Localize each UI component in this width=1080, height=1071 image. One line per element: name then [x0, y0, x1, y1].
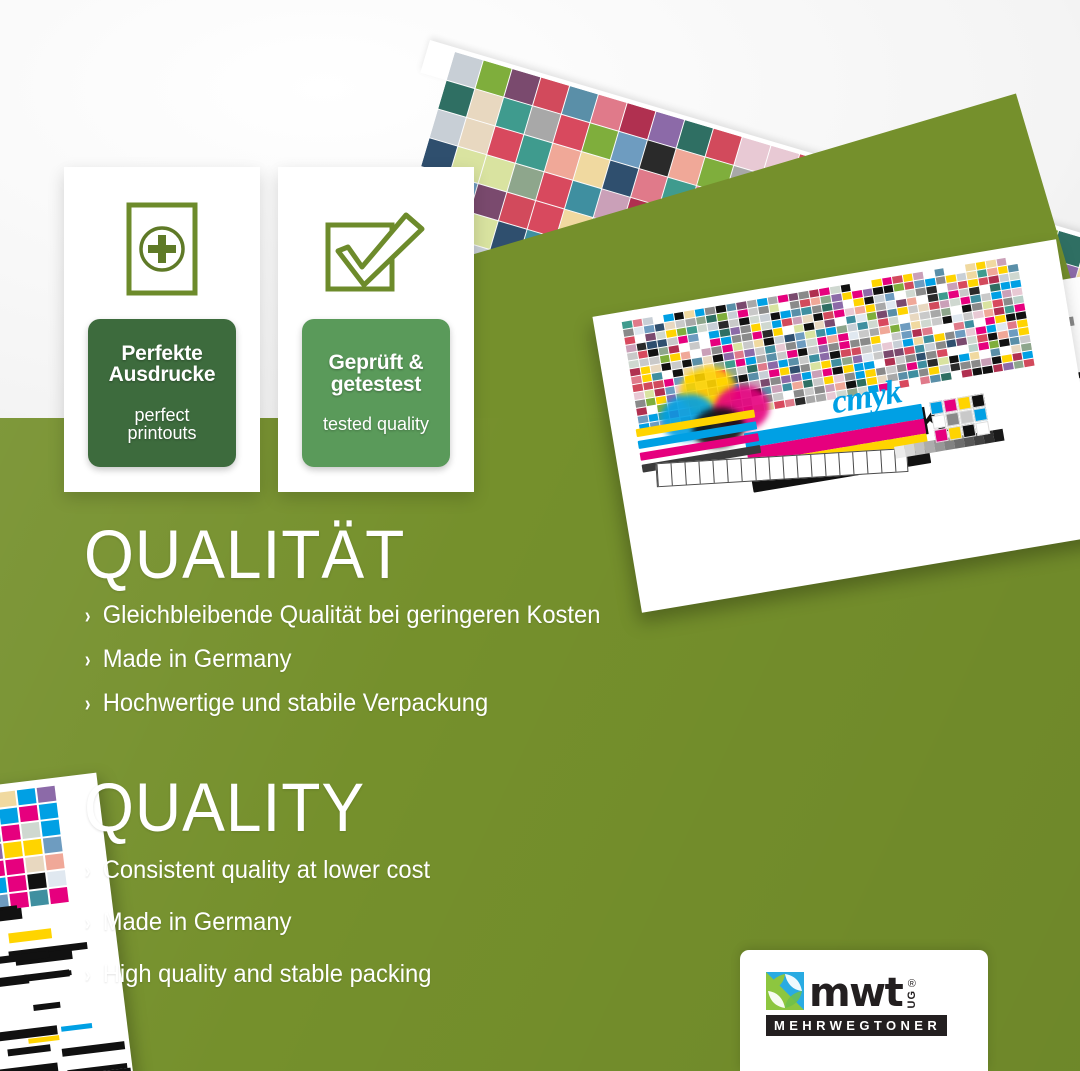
ruler-tick	[698, 462, 700, 484]
list-item-label: Made in Germany	[103, 910, 292, 935]
patch	[948, 426, 963, 441]
section-english: QUALITY › Consistent quality at lower co…	[84, 774, 450, 1014]
patch	[961, 423, 976, 438]
patch	[959, 409, 974, 424]
test-patch	[941, 373, 952, 381]
test-patch	[920, 376, 931, 384]
chevron-right-icon: ›	[85, 692, 91, 715]
test-patch	[47, 870, 67, 887]
test-patch	[785, 399, 796, 407]
test-mark	[7, 1044, 51, 1056]
test-patch	[982, 366, 993, 374]
test-patch	[27, 873, 47, 890]
gray-step	[993, 429, 1005, 442]
feature-title-en: tested quality	[323, 415, 429, 434]
list-item-label: High quality and stable packing	[103, 962, 432, 987]
test-patch	[993, 364, 1004, 372]
test-patch	[7, 875, 27, 892]
checkbox-pen-icon	[278, 193, 474, 305]
test-patch	[19, 805, 39, 822]
test-patch	[816, 393, 827, 401]
patch	[932, 414, 947, 429]
test-patch	[49, 887, 69, 904]
list-item: › High quality and stable packing	[84, 962, 431, 987]
list-item-label: Made in Germany	[103, 647, 292, 672]
feature-title-de: Geprüft &getestest	[328, 352, 423, 395]
test-patch	[43, 836, 63, 853]
chevron-right-icon: ›	[85, 604, 91, 627]
test-patch	[0, 807, 19, 824]
test-patch	[5, 858, 25, 875]
test-mark	[0, 908, 23, 926]
ruler-tick	[782, 457, 784, 479]
list-item: › Gleichbleibende Qualität bei geringere…	[84, 603, 600, 628]
test-patch	[23, 839, 43, 856]
ruler-tick	[824, 454, 826, 476]
test-patch	[21, 822, 41, 839]
patch	[971, 393, 986, 408]
test-patch	[774, 400, 785, 408]
patch	[934, 428, 949, 443]
ruler-tick	[657, 464, 659, 486]
list-item-label: Gleichbleibende Qualität bei geringeren …	[103, 603, 601, 628]
test-patch	[962, 369, 973, 377]
test-patch	[909, 378, 920, 386]
test-mark	[33, 1002, 60, 1011]
ruler-tick	[768, 457, 770, 479]
test-patch	[805, 395, 816, 403]
chevron-right-icon: ›	[85, 911, 91, 934]
test-patch	[0, 861, 5, 878]
list-item: › Made in Germany	[84, 910, 431, 935]
test-patch	[39, 803, 59, 820]
chevron-right-icon: ›	[85, 963, 91, 986]
bullet-list-de: › Gleichbleibende Qualität bei geringere…	[84, 603, 628, 716]
list-item: › Hochwertige und stabile Verpackung	[84, 691, 600, 716]
chevron-right-icon: ›	[85, 648, 91, 671]
page-title-de: QUALITÄT	[84, 521, 590, 589]
test-patch	[899, 380, 910, 388]
logo-tagline: MEHRWEGTONER	[766, 1015, 947, 1036]
test-patch	[951, 371, 962, 379]
test-patch	[972, 367, 983, 375]
brand-logo[interactable]: mwt ® UG MEHRWEGTONER	[740, 950, 988, 1071]
list-item: › Made in Germany	[84, 647, 600, 672]
product-banner: cmyk CMYK	[0, 0, 1080, 1071]
ruler-tick	[754, 458, 756, 480]
feature-tile: PerfekteAusdrucke perfectprintouts	[88, 319, 236, 467]
test-patch	[0, 791, 17, 808]
feature-title-de: PerfekteAusdrucke	[109, 343, 216, 386]
ruler-tick	[726, 460, 728, 482]
feature-tile: Geprüft &getestest tested quality	[302, 319, 450, 467]
ruler-tick	[880, 451, 882, 473]
mwt-leaf-mark-icon	[766, 972, 804, 1010]
test-patch	[45, 853, 65, 870]
chevron-right-icon: ›	[85, 859, 91, 882]
patch	[975, 421, 990, 436]
feature-title-en: perfectprintouts	[127, 406, 196, 443]
ruler-tick	[838, 453, 840, 475]
list-item: › Consistent quality at lower cost	[84, 858, 431, 883]
page-plus-icon	[64, 193, 260, 305]
test-patch	[3, 841, 23, 858]
patch	[943, 398, 958, 413]
feature-card-tested-quality[interactable]: Geprüft &getestest tested quality	[278, 167, 474, 492]
ruler-tick	[866, 451, 868, 473]
logo-legal-form: UG	[906, 990, 918, 1009]
patch	[929, 400, 944, 415]
ruler-tick	[796, 456, 798, 478]
test-mark	[62, 1041, 125, 1056]
test-patch	[1024, 359, 1035, 367]
patch	[957, 396, 972, 411]
registered-trademark-icon: ®	[908, 978, 916, 990]
ruler-tick	[810, 455, 812, 477]
test-patch	[17, 788, 37, 805]
ruler-tick	[684, 463, 686, 485]
test-mark	[0, 1062, 59, 1071]
test-patch	[930, 374, 941, 382]
test-patch	[41, 819, 61, 836]
page-title-en: QUALITY	[84, 774, 424, 842]
test-mark	[8, 928, 52, 943]
test-patch	[25, 856, 45, 873]
list-item-label: Hochwertige und stabile Verpackung	[103, 691, 489, 716]
test-patch	[37, 786, 57, 803]
test-mark	[0, 975, 29, 991]
ruler-tick	[670, 463, 672, 485]
ruler-tick	[712, 461, 714, 483]
patch	[973, 407, 988, 422]
feature-card-perfect-printouts[interactable]: PerfekteAusdrucke perfectprintouts	[64, 167, 260, 492]
test-mark	[61, 1023, 93, 1031]
section-german: QUALITÄT › Gleichbleibende Qualität bei …	[84, 521, 628, 735]
logo-wordmark: mwt	[809, 977, 902, 1010]
test-patch	[795, 397, 806, 405]
bullet-list-en: › Consistent quality at lower cost › Mad…	[84, 858, 450, 987]
test-patch	[1, 824, 21, 841]
test-patch	[0, 877, 7, 894]
ruler-tick	[740, 459, 742, 481]
ruler-tick	[852, 452, 854, 474]
test-patch	[1003, 362, 1014, 370]
test-patch	[29, 889, 49, 906]
patch	[945, 412, 960, 427]
test-patch	[1014, 360, 1025, 368]
list-item-label: Consistent quality at lower cost	[103, 858, 430, 883]
